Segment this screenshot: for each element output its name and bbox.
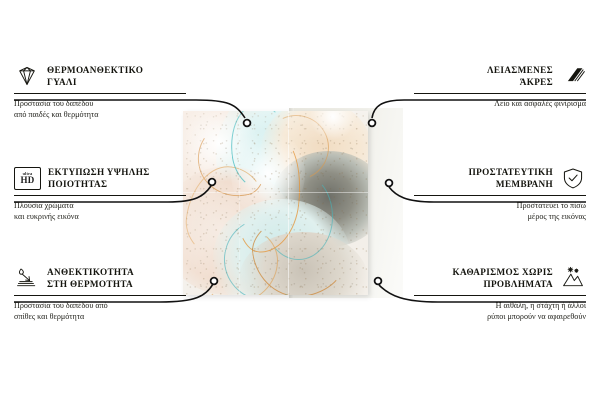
ultra-hd-badge-large: HD — [21, 176, 35, 185]
feature-desc-line2: από παιδές και θερμότητα — [14, 109, 186, 120]
feature-title-line2: ΣΤΗ ΘΕΡΜΟΤΗΤΑ — [47, 278, 134, 290]
feature-divider — [14, 93, 186, 94]
feature-header: ΚΑΘΑΡΙΣΜΟΣ ΧΩΡΙΣ ΠΡΟΒΛΗΜΑΤΑ — [414, 266, 586, 291]
window-reflection-vertical — [288, 111, 289, 295]
feature-desc-line1: Προστασία του δαπέδου — [14, 98, 186, 109]
feature-description: Η αιθάλη, η στάχτη ή άλλοι ρύποι μπορούν… — [414, 300, 586, 322]
feature-polished-edges: ΛΕΙΑΣΜΕΝΕΣ ΆΚΡΕΣ Λείο και ασφαλές φινίρι… — [414, 64, 586, 109]
feature-divider — [14, 195, 186, 196]
feature-header: ΛΕΙΑΣΜΕΝΕΣ ΆΚΡΕΣ — [414, 64, 586, 89]
window-reflection-horizontal — [183, 192, 368, 193]
feature-header: ΑΝΘΕΚΤΙΚΟΤΗΤΑ ΣΤΗ ΘΕΡΜΟΤΗΤΑ — [14, 266, 186, 291]
feature-description: Προστασία του δαπέδου από παιδές και θερ… — [14, 98, 186, 120]
feature-easy-cleaning: ΚΑΘΑΡΙΣΜΟΣ ΧΩΡΙΣ ΠΡΟΒΛΗΜΑΤΑ Η αιθάλη, η … — [414, 266, 586, 322]
glass-splashback-panel — [183, 111, 368, 295]
feature-desc-line2: μέρος της εικόνας — [414, 211, 586, 222]
shield-check-icon — [560, 166, 586, 190]
feature-desc-line2: σπίθες και θερμότητα — [14, 311, 186, 322]
feature-title-line2: ΠΟΙΟΤΗΤΑΣ — [48, 178, 150, 190]
feature-desc-line2: και ευκρινής εικόνα — [14, 211, 186, 222]
feature-description: Προστατεύει το πίσω μέρος της εικόνας — [414, 200, 586, 222]
diamond-icon — [14, 64, 40, 88]
feature-description: Πλούσια χρώματα και ευκρινής εικόνα — [14, 200, 186, 222]
feature-title-line1: ΠΡΟΣΤΑΤΕΥΤΙΚΗ — [469, 166, 553, 178]
easy-cleaning-icon — [560, 266, 586, 290]
feature-title-line1: ΕΚΤΥΠΩΣΗ ΥΨΗΛΗΣ — [48, 166, 150, 178]
feature-divider — [414, 295, 586, 296]
feature-title-line1: ΛΕΙΑΣΜΕΝΕΣ — [487, 64, 553, 76]
flame-heat-resistance-icon — [14, 266, 40, 290]
feature-desc-line1: Λείο και ασφαλές φινίρισμα — [414, 98, 586, 109]
feature-title-line2: ΓΥΑΛΙ — [47, 76, 143, 88]
feature-desc-line1: Προστασία του δαπέδου από — [14, 300, 186, 311]
ultra-hd-icon: ultra HD — [14, 167, 41, 190]
feature-title-line1: ΑΝΘΕΚΤΙΚΟΤΗΤΑ — [47, 266, 134, 278]
feature-description: Προστασία του δαπέδου από σπίθες και θερ… — [14, 300, 186, 322]
feature-title-line2: ΆΚΡΕΣ — [487, 76, 553, 88]
feature-title: ΑΝΘΕΚΤΙΚΟΤΗΤΑ ΣΤΗ ΘΕΡΜΟΤΗΤΑ — [47, 266, 134, 291]
feature-title-line2: ΠΡΟΒΛΗΜΑΤΑ — [453, 278, 553, 290]
feature-title: ΚΑΘΑΡΙΣΜΟΣ ΧΩΡΙΣ ΠΡΟΒΛΗΜΑΤΑ — [453, 266, 553, 291]
feature-title: ΠΡΟΣΤΑΤΕΥΤΙΚΗ ΜΕΜΒΡΑΝΗ — [469, 166, 553, 191]
feature-high-quality-print: ultra HD ΕΚΤΥΠΩΣΗ ΥΨΗΛΗΣ ΠΟΙΟΤΗΤΑΣ Πλούσ… — [14, 166, 186, 222]
feature-desc-line1: Πλούσια χρώματα — [14, 200, 186, 211]
feature-title: ΕΚΤΥΠΩΣΗ ΥΨΗΛΗΣ ΠΟΙΟΤΗΤΑΣ — [48, 166, 150, 191]
feature-divider — [414, 93, 586, 94]
feature-divider — [14, 295, 186, 296]
polished-edges-icon — [560, 64, 586, 88]
feature-heat-resistant-glass: ΘΕΡΜΟΑΝΘΕΚΤΙΚΟ ΓΥΑΛΙ Προστασία του δαπέδ… — [14, 64, 186, 120]
feature-title-line2: ΜΕΜΒΡΑΝΗ — [469, 178, 553, 190]
feature-divider — [414, 195, 586, 196]
feature-header: ΠΡΟΣΤΑΤΕΥΤΙΚΗ ΜΕΜΒΡΑΝΗ — [414, 166, 586, 191]
window-reflection-vertical — [239, 111, 240, 295]
feature-title-line1: ΚΑΘΑΡΙΣΜΟΣ ΧΩΡΙΣ — [453, 266, 553, 278]
product-image — [183, 108, 403, 298]
feature-title: ΛΕΙΑΣΜΕΝΕΣ ΆΚΡΕΣ — [487, 64, 553, 89]
feature-description: Λείο και ασφαλές φινίρισμα — [414, 98, 586, 109]
feature-heat-resistance: ΑΝΘΕΚΤΙΚΟΤΗΤΑ ΣΤΗ ΘΕΡΜΟΤΗΤΑ Προστασία το… — [14, 266, 186, 322]
feature-header: ultra HD ΕΚΤΥΠΩΣΗ ΥΨΗΛΗΣ ΠΟΙΟΤΗΤΑΣ — [14, 166, 186, 191]
feature-desc-line1: Προστατεύει το πίσω — [414, 200, 586, 211]
feature-title: ΘΕΡΜΟΑΝΘΕΚΤΙΚΟ ΓΥΑΛΙ — [47, 64, 143, 89]
feature-desc-line2: ρύποι μπορούν να αφαιρεθούν — [414, 311, 586, 322]
feature-title-line1: ΘΕΡΜΟΑΝΘΕΚΤΙΚΟ — [47, 64, 143, 76]
feature-header: ΘΕΡΜΟΑΝΘΕΚΤΙΚΟ ΓΥΑΛΙ — [14, 64, 186, 89]
feature-protective-membrane: ΠΡΟΣΤΑΤΕΥΤΙΚΗ ΜΕΜΒΡΑΝΗ Προστατεύει το πί… — [414, 166, 586, 222]
feature-desc-line1: Η αιθάλη, η στάχτη ή άλλοι — [414, 300, 586, 311]
infographic-stage: ΘΕΡΜΟΑΝΘΕΚΤΙΚΟ ΓΥΑΛΙ Προστασία του δαπέδ… — [0, 0, 600, 400]
